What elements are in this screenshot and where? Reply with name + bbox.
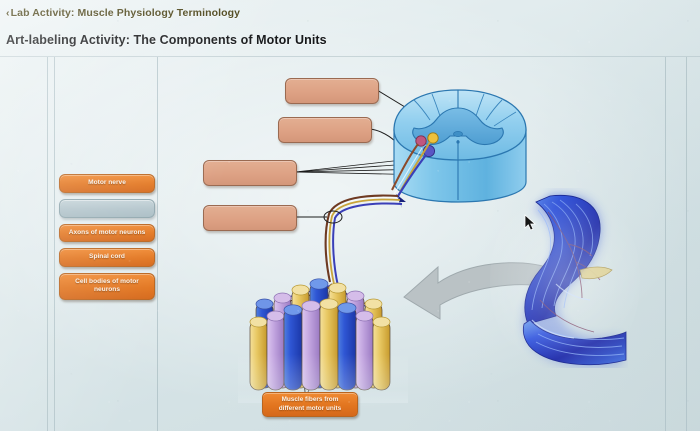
back-chevron-icon[interactable]: ‹ — [6, 7, 10, 19]
bank-item-cell-bodies-of-motor-neurons[interactable]: Cell bodies of motor neurons — [59, 273, 155, 300]
bank-item-motor-nerve[interactable]: Motor nerve — [59, 174, 155, 193]
bank-item-empty-slot[interactable] — [59, 199, 155, 218]
bank-item-spinal-cord[interactable]: Spinal cord — [59, 248, 155, 267]
bank-item-label: Cell bodies of motor neurons — [75, 278, 139, 294]
muscle-fibers-label: Muscle fibers from different motor units — [262, 392, 358, 417]
muscle-fiber-bundle — [238, 258, 408, 403]
drop-target-1[interactable] — [285, 78, 379, 104]
drop-target-4[interactable] — [203, 205, 297, 231]
drop-target-3[interactable] — [203, 160, 297, 186]
bank-item-label: Axons of motor neurons — [69, 229, 146, 236]
bank-item-label: Spinal cord — [89, 253, 125, 260]
screenshot-root: ‹Lab Activity: Muscle Physiology Termino… — [0, 0, 700, 431]
fiber-label-line1: Muscle fibers from — [265, 396, 355, 405]
fiber-label-line2: different motor units — [265, 405, 355, 414]
left-margin-rule-2 — [54, 57, 55, 431]
mouse-cursor — [524, 214, 537, 232]
breadcrumb[interactable]: ‹Lab Activity: Muscle Physiology Termino… — [6, 7, 240, 19]
page-title: Art-labeling Activity: The Components of… — [6, 33, 327, 47]
word-bank: Motor nerve Axons of motor neurons Spina… — [59, 174, 159, 306]
bank-item-label: Motor nerve — [88, 179, 126, 186]
bank-item-axons-of-motor-neurons[interactable]: Axons of motor neurons — [59, 224, 155, 243]
right-margin-rule — [686, 57, 687, 431]
breadcrumb-label[interactable]: Lab Activity: Muscle Physiology Terminol… — [11, 7, 241, 19]
header-divider — [0, 56, 700, 57]
content-right-rule — [665, 57, 666, 431]
biceps-muscle-illustration — [498, 188, 628, 368]
drop-target-2[interactable] — [278, 117, 372, 143]
left-margin-rule-1 — [47, 57, 48, 431]
